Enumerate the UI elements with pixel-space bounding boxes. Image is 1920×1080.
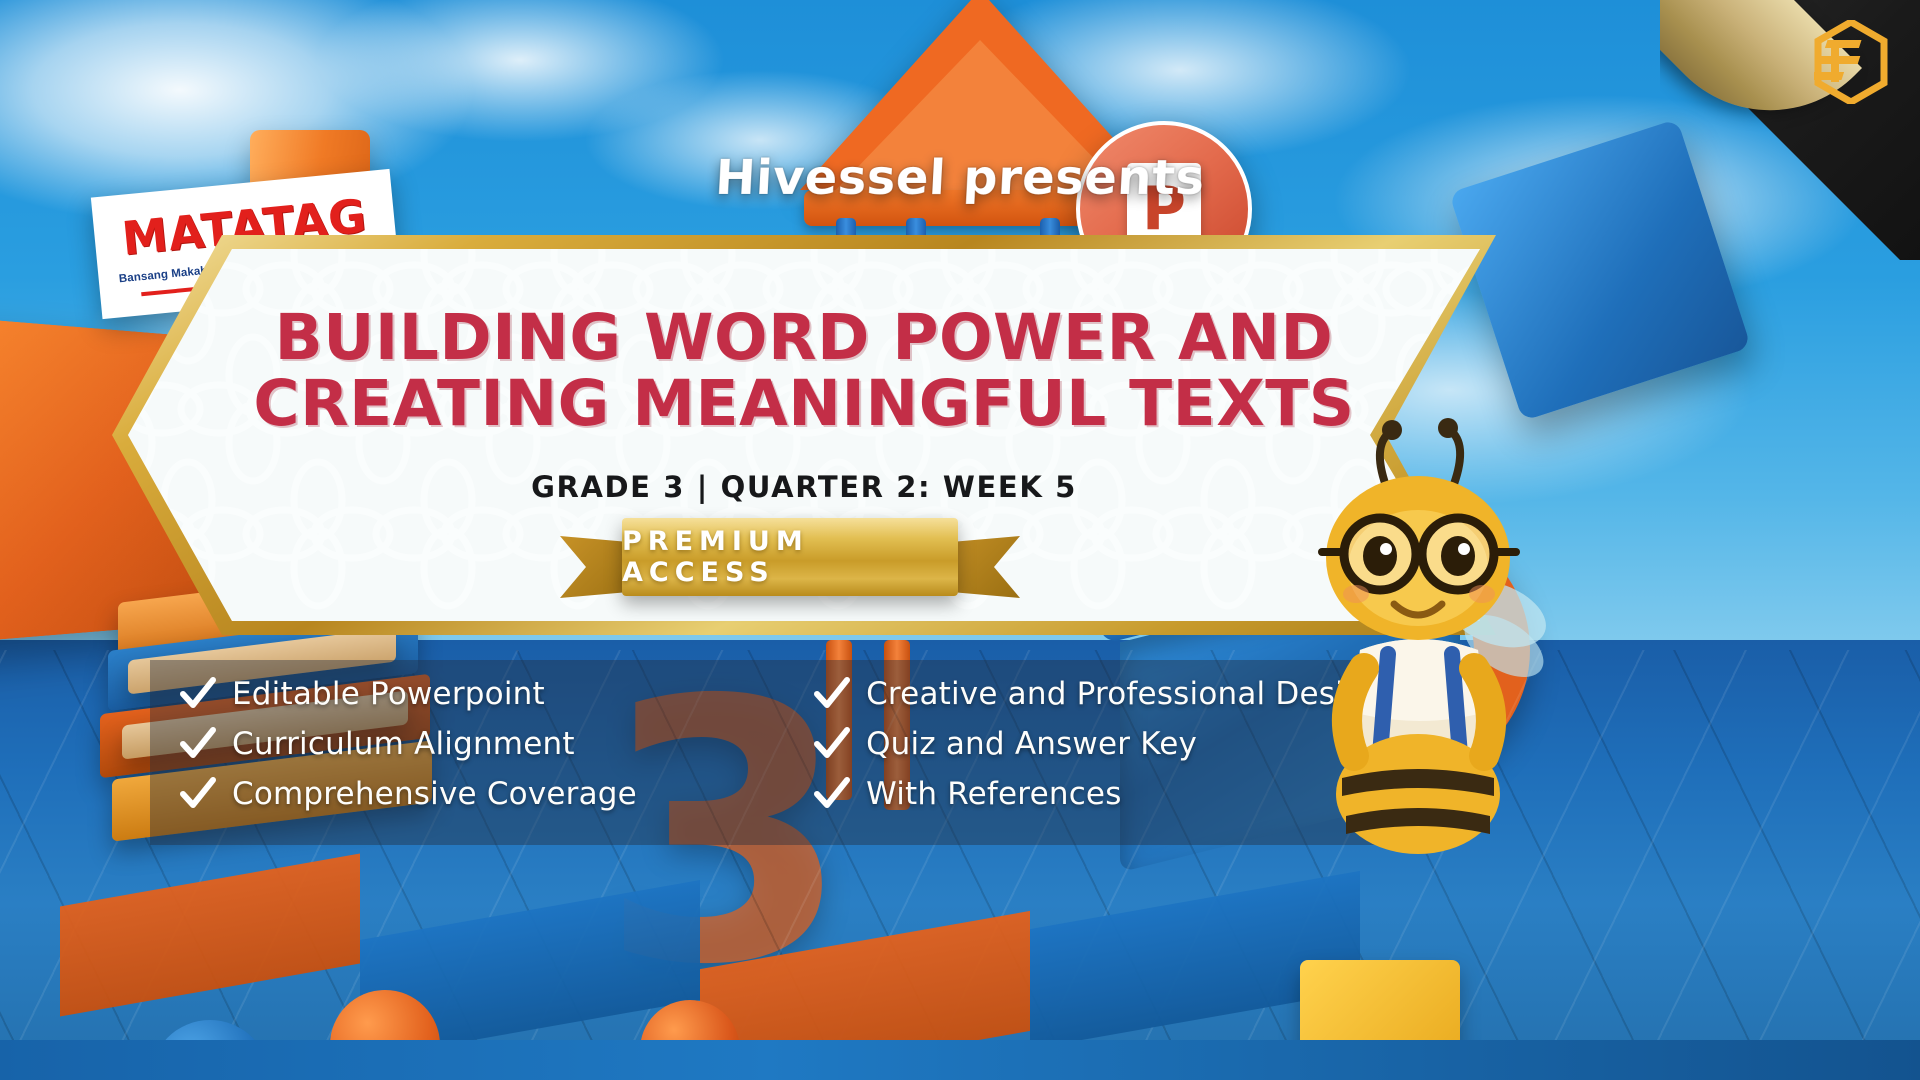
- check-icon: [178, 674, 218, 714]
- feature-label: With References: [866, 776, 1122, 812]
- features-column-left: Editable Powerpoint Curriculum Alignment…: [150, 674, 746, 845]
- page-curl-corner: [1660, 0, 1920, 260]
- check-icon: [812, 724, 852, 764]
- check-icon: [812, 774, 852, 814]
- premium-ribbon: PREMIUM ACCESS: [560, 512, 1020, 620]
- check-icon: [812, 674, 852, 714]
- check-icon: [178, 724, 218, 764]
- bee-mascot: [1268, 418, 1568, 868]
- presents-headline: Hivessel presents: [0, 150, 1920, 206]
- feature-item: Editable Powerpoint: [178, 674, 746, 714]
- features-panel: Editable Powerpoint Curriculum Alignment…: [150, 660, 1400, 845]
- hexagon-hive-logo-icon[interactable]: [1814, 20, 1888, 104]
- title-line-1: BUILDING WORD POWER AND: [275, 305, 1334, 371]
- title-line-2: CREATING MEANINGFUL TEXTS: [253, 371, 1354, 437]
- feature-item: Curriculum Alignment: [178, 724, 746, 764]
- feature-item: Comprehensive Coverage: [178, 774, 746, 814]
- feature-label: Comprehensive Coverage: [232, 776, 637, 812]
- poster-canvas: 3 MATATAG Bansang Maka: [0, 0, 1920, 1080]
- ribbon-label: PREMIUM ACCESS: [622, 526, 958, 588]
- banner-subtitle: GRADE 3 | QUARTER 2: WEEK 5: [531, 470, 1077, 504]
- check-icon: [178, 774, 218, 814]
- ribbon-body: PREMIUM ACCESS: [622, 518, 958, 596]
- bottom-strip: [0, 1040, 1920, 1080]
- feature-label: Quiz and Answer Key: [866, 726, 1197, 762]
- feature-label: Curriculum Alignment: [232, 726, 575, 762]
- feature-label: Editable Powerpoint: [232, 676, 545, 712]
